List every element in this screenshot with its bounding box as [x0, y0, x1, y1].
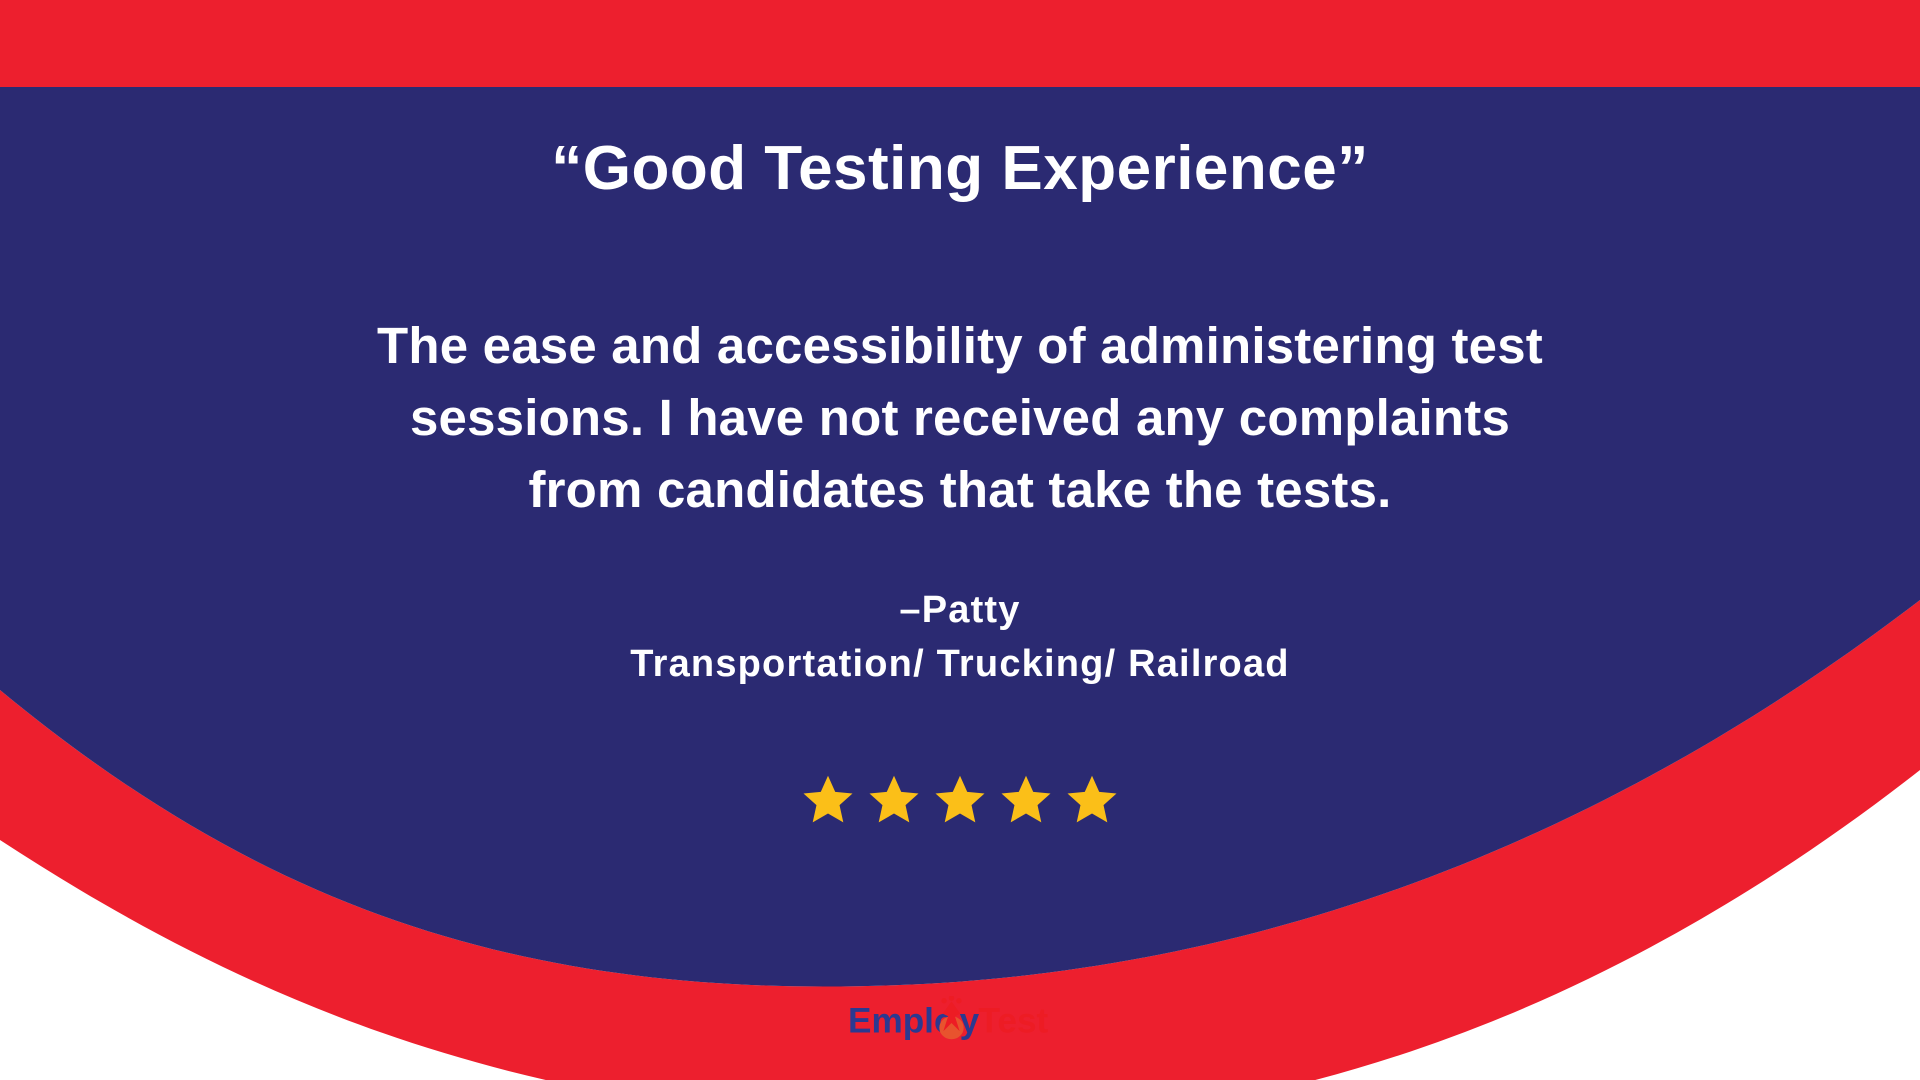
attribution-name: –Patty	[0, 583, 1920, 637]
attribution-industry: Transportation/ Trucking/ Railroad	[0, 637, 1920, 691]
attribution: –Patty Transportation/ Trucking/ Railroa…	[0, 583, 1920, 691]
star-icon	[1064, 772, 1120, 828]
quote-title: “Good Testing Experience”	[0, 136, 1920, 201]
star-icon	[800, 772, 856, 828]
brand-logo: Emplo y Test	[0, 996, 1920, 1042]
testimonial-card: “Good Testing Experience” The ease and a…	[0, 0, 1920, 1080]
quote-line-1: The ease and accessibility of administer…	[120, 310, 1800, 382]
logo-text-emplo: Emplo	[848, 1002, 955, 1041]
content-layer: “Good Testing Experience” The ease and a…	[0, 0, 1920, 1080]
star-icon	[932, 772, 988, 828]
quote-body: The ease and accessibility of administer…	[120, 310, 1800, 526]
quote-line-3: from candidates that take the tests.	[120, 454, 1800, 526]
star-rating	[0, 772, 1920, 828]
employtest-logo: Emplo y Test	[848, 996, 1071, 1042]
star-icon	[866, 772, 922, 828]
logo-text-test: Test	[979, 1002, 1049, 1041]
logo-text-y: y	[960, 1002, 980, 1041]
quote-line-2: sessions. I have not received any compla…	[120, 382, 1800, 454]
star-icon	[998, 772, 1054, 828]
